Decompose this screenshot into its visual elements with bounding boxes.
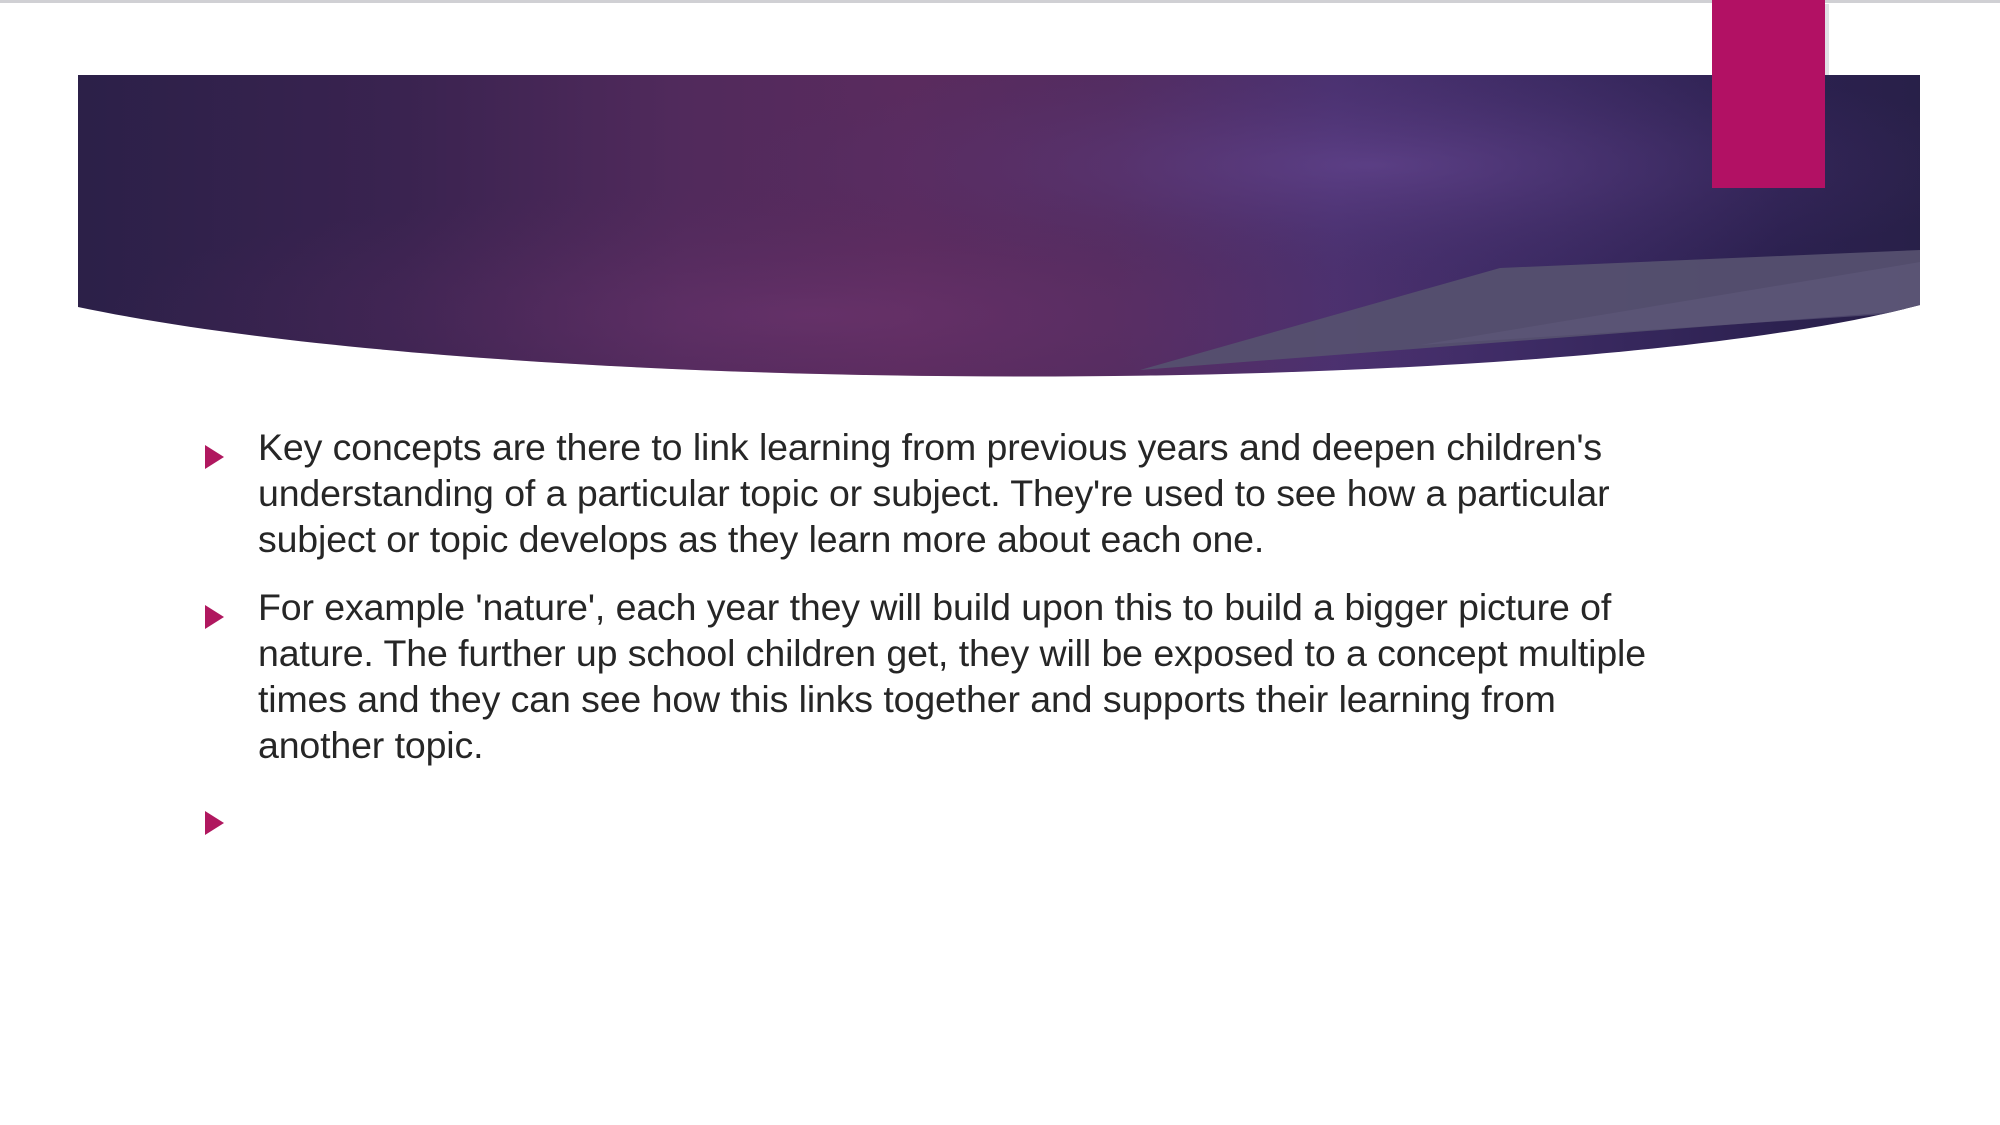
accent-bar bbox=[1712, 0, 1825, 188]
bullet-text bbox=[258, 790, 1670, 820]
list-item[interactable]: For example 'nature', each year they wil… bbox=[0, 584, 2000, 768]
banner-body bbox=[70, 70, 1930, 400]
list-item[interactable]: Key concepts are there to link learning … bbox=[0, 424, 2000, 562]
slide-body-content: Key concepts are there to link learning … bbox=[0, 424, 2000, 820]
bullet-text: For example 'nature', each year they wil… bbox=[258, 584, 1670, 768]
bullet-text: Key concepts are there to link learning … bbox=[258, 424, 1670, 562]
banner-svg bbox=[0, 0, 2000, 400]
bullet-triangle-icon bbox=[205, 811, 224, 835]
bullet-triangle-icon bbox=[205, 605, 224, 629]
list-item[interactable] bbox=[0, 790, 2000, 820]
presentation-slide: Key concepts are there to link learning … bbox=[0, 0, 2000, 1125]
slide-banner-graphic bbox=[0, 0, 2000, 400]
bullet-triangle-icon bbox=[205, 445, 224, 469]
